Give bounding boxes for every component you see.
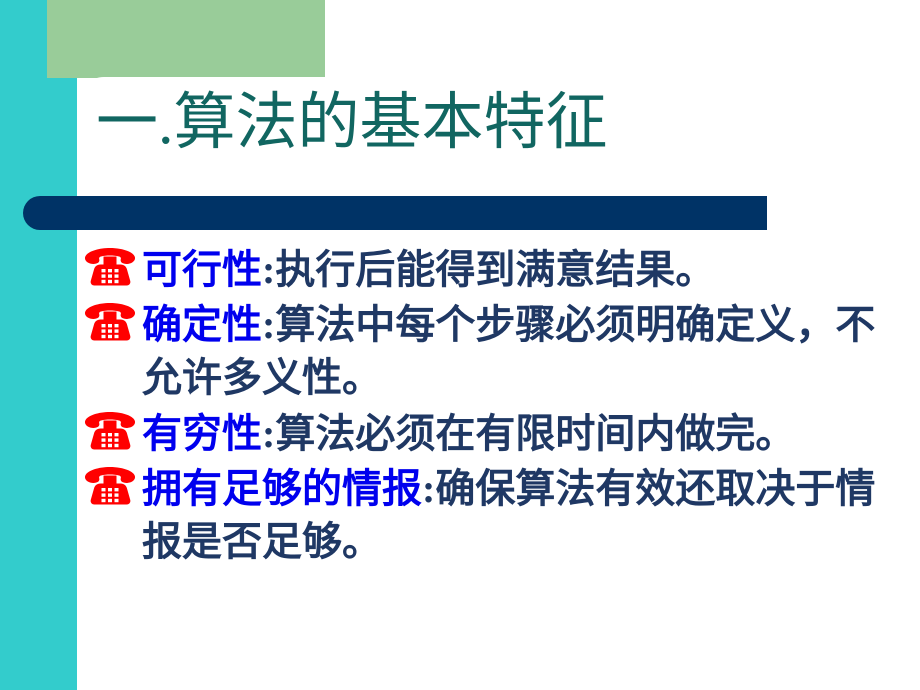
bullet-lead-term: 可行性 (142, 247, 262, 292)
bullet-description: :执行后能得到满意结果。 (262, 247, 715, 292)
list-item: 拥有足够的情报:确保算法有效还取决于情报是否足够。 (84, 462, 912, 568)
list-item: 确定性:算法中每个步骤必须明确定义，不允许多义性。 (84, 298, 912, 404)
telephone-icon (84, 411, 136, 455)
list-item: 有穷性:算法必须在有限时间内做完。 (84, 407, 912, 460)
decorative-green-block (47, 0, 325, 78)
decorative-cyan-side-bar (0, 0, 77, 690)
bullet-list: 可行性:执行后能得到满意结果。 (84, 243, 912, 570)
telephone-icon (84, 302, 136, 346)
slide-title: 一.算法的基本特征 (96, 92, 608, 154)
decorative-navy-divider-bar (23, 196, 767, 230)
bullet-lead-term: 确定性 (142, 302, 262, 347)
bullet-lead-term: 有穷性 (142, 411, 262, 456)
bullet-lead-term: 拥有足够的情报 (142, 466, 422, 511)
slide-canvas: 一.算法的基本特征 (0, 0, 920, 690)
telephone-icon (84, 247, 136, 291)
bullet-description: :算法必须在有限时间内做完。 (262, 411, 795, 456)
list-item: 可行性:执行后能得到满意结果。 (84, 243, 912, 296)
telephone-icon (84, 466, 136, 510)
